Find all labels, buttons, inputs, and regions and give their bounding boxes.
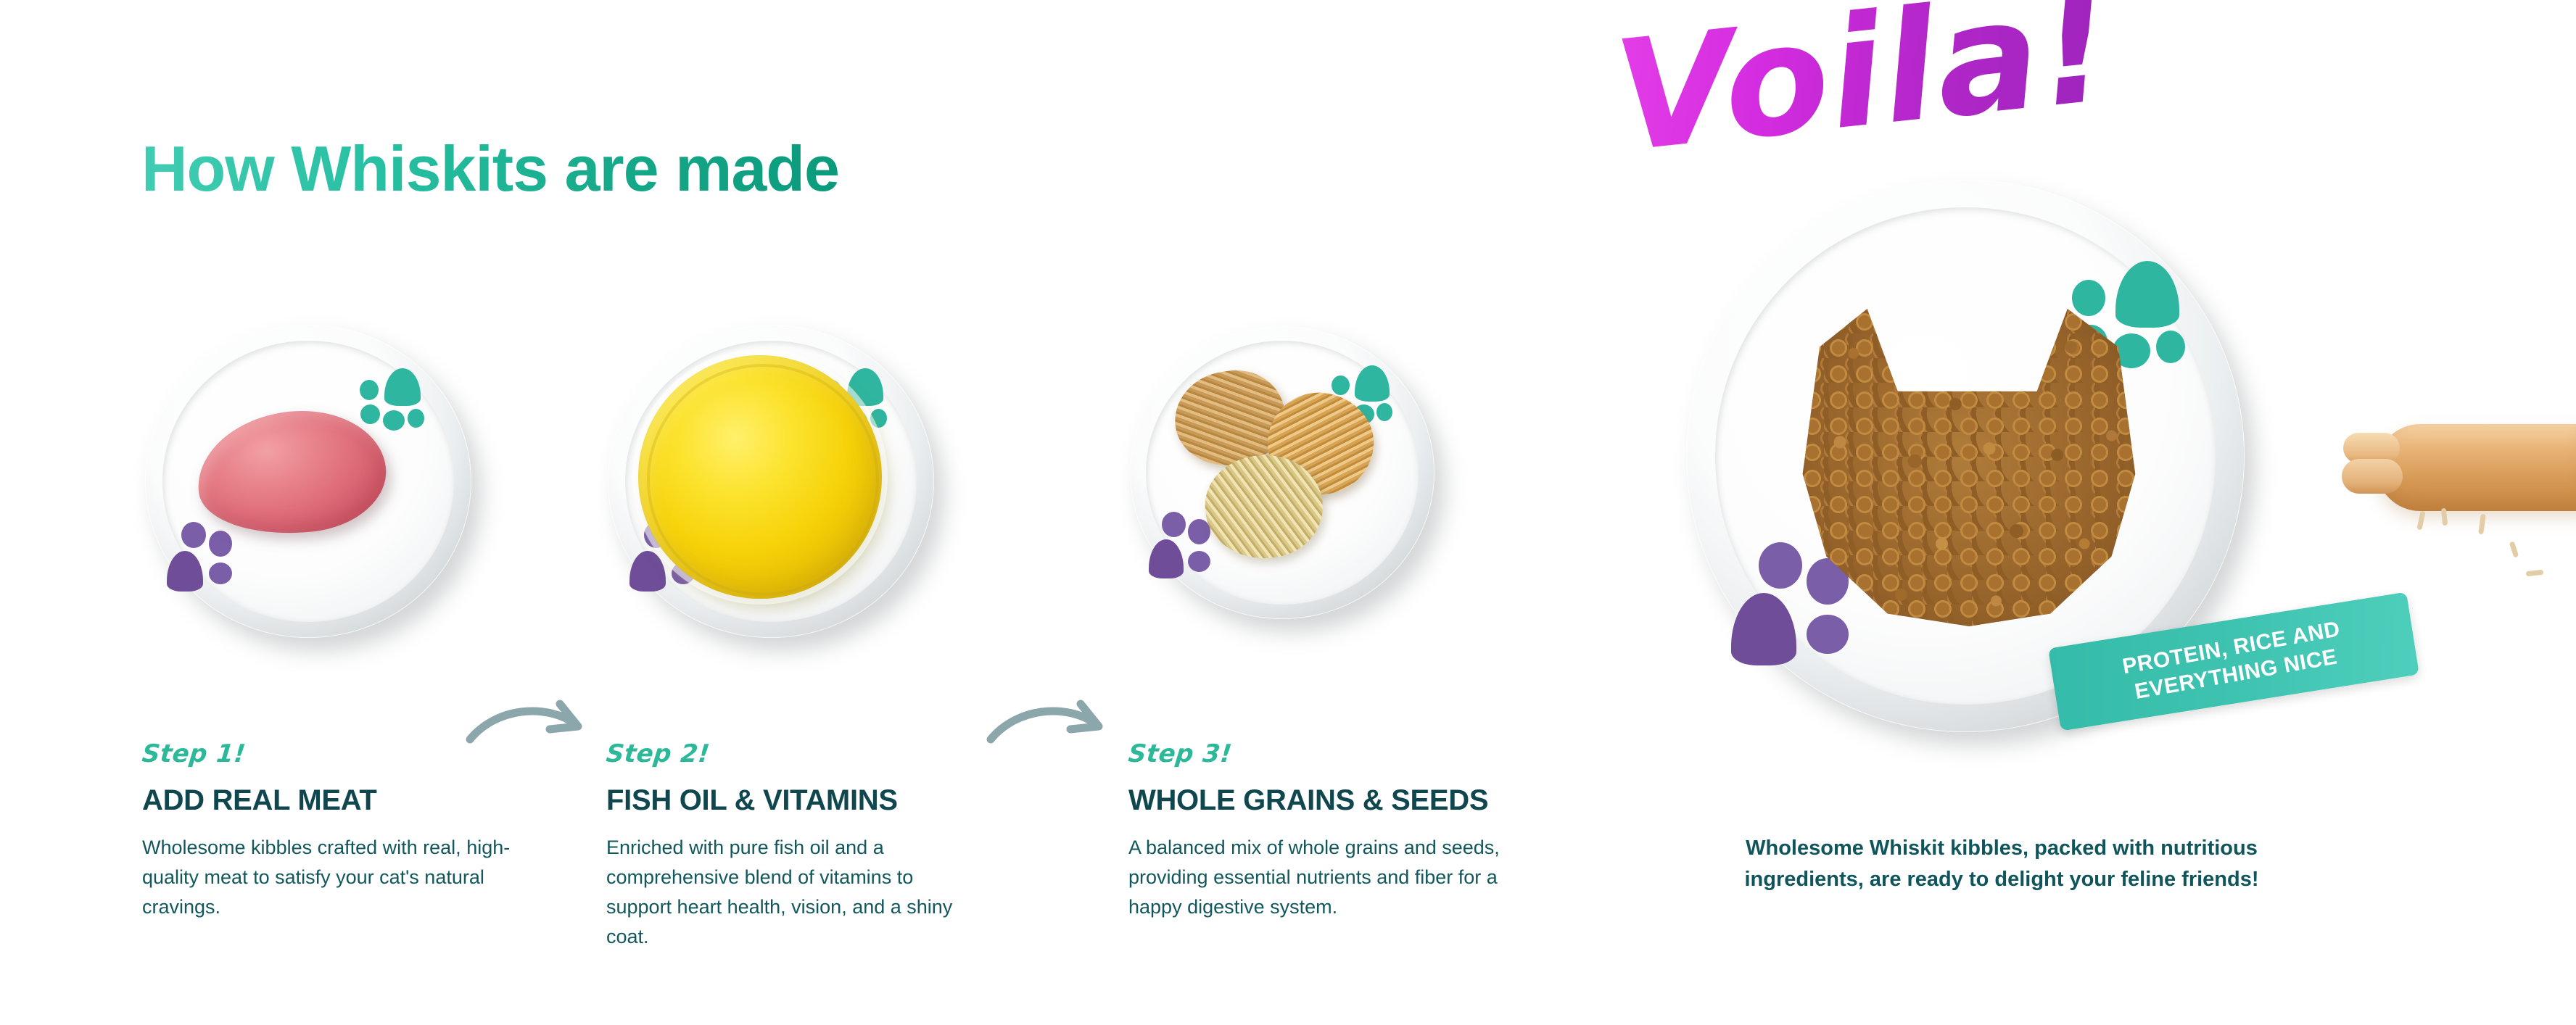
step-title: WHOLE GRAINS & SEEDS [1128,784,1535,817]
plate-grains-seeds [1130,326,1449,631]
paw-whisker-1 [2416,511,2425,531]
hero-caption: Wholesome Whiskit kibbles, packed with n… [1733,833,2270,895]
ginger-cat-paw-image [2332,417,2576,551]
step-card-2: Step 2! FISH OIL & VITAMINS Enriched wit… [606,739,1012,952]
step-kicker: Step 3! [1127,739,1536,768]
paw-limb [2377,424,2576,511]
paw-whisker-3 [2478,514,2486,535]
page-title: How Whiskits are made [141,136,839,202]
paw-print-purple-icon [164,522,234,592]
step-title: FISH OIL & VITAMINS [606,784,1012,817]
step-title: ADD REAL MEAT [142,784,548,817]
step-kicker: Step 1! [141,739,550,768]
voila-headline: Voila! [1609,0,2118,174]
oil-bowl-rim [647,364,879,596]
plate-fish-oil [608,325,949,644]
plate-raw-meat [145,325,486,644]
paw-toe-2 [2342,459,2403,494]
step-card-3: Step 3! WHOLE GRAINS & SEEDS A balanced … [1128,739,1535,922]
step-kicker: Step 2! [605,739,1014,768]
step-body: Enriched with pure fish oil and a compre… [606,833,954,952]
paw-print-purple-icon [1146,512,1213,578]
step-body: A balanced mix of whole grains and seeds… [1128,833,1506,922]
paw-whisker-5 [2526,570,2544,576]
step-body: Wholesome kibbles crafted with real, hig… [142,833,519,922]
paw-whisker-4 [2509,541,2519,557]
paw-print-teal-icon [360,367,422,431]
step-card-1: Step 1! ADD REAL MEAT Wholesome kibbles … [142,739,548,922]
